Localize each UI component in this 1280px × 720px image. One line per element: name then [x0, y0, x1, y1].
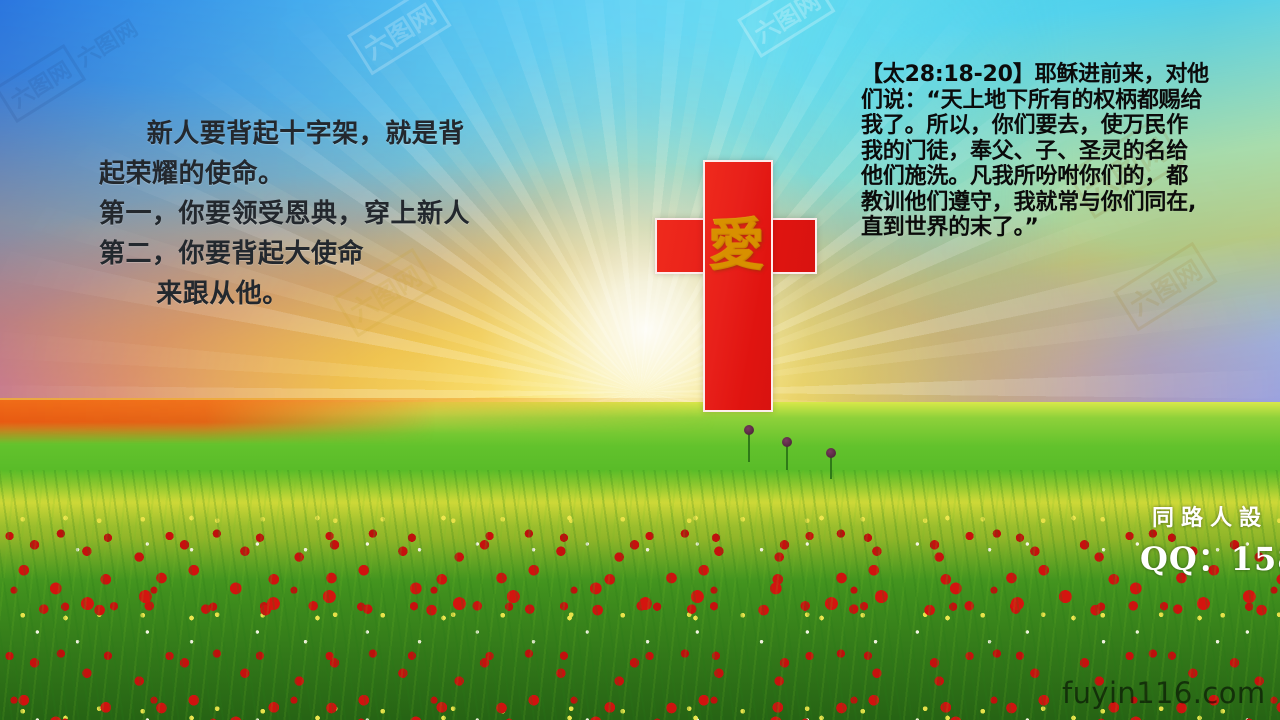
- orange-flower-band: [0, 400, 1280, 444]
- thistle-plant: [830, 455, 832, 479]
- cross-vertical-beam: [703, 160, 773, 412]
- thistle-plant: [786, 444, 788, 470]
- cross-love-character: 愛: [703, 212, 769, 278]
- sermon-body-text: 新人要背起十字架，就是背 起荣耀的使命。 第一，你要领受恩典，穿上新人 第二，你…: [99, 114, 569, 314]
- cross-graphic: 愛: [655, 160, 813, 408]
- slide-canvas: 六图网六图网 六图网 六图网 六图网 六图网 六图网 愛 新人要背起十字架，就是…: [0, 0, 1280, 720]
- scripture-quote-text: 【太28:18-20】耶稣进前来，对他 们说：“天上地下所有的权柄都赐给 我了。…: [861, 62, 1261, 241]
- grass-blade-overlay: [0, 470, 1280, 720]
- thistle-plant: [748, 432, 750, 462]
